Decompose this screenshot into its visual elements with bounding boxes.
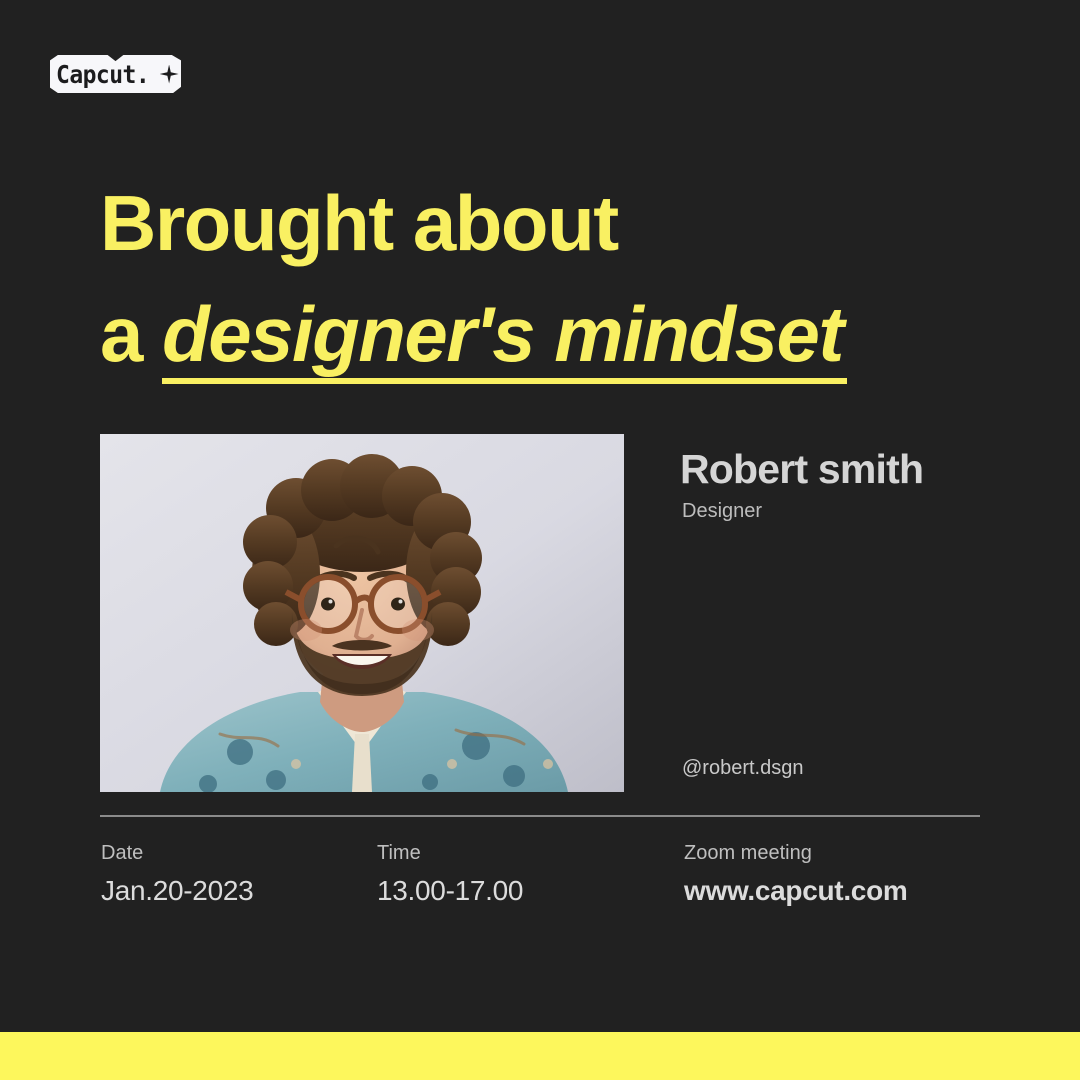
four-point-star-icon — [160, 65, 179, 84]
headline-line-2: a designer's mindset — [100, 279, 980, 390]
info-column-zoom: Zoom meeting www.capcut.com — [684, 841, 907, 908]
speaker-photo — [100, 434, 624, 792]
speaker-name: Robert smith — [680, 447, 923, 492]
info-label-zoom: Zoom meeting — [684, 841, 907, 865]
info-column-date: Date Jan.20-2023 — [101, 841, 253, 908]
headline-line2-prefix: a — [100, 290, 162, 378]
speaker-role: Designer — [682, 499, 762, 523]
event-poster: Capcut. Brought about a designer's minds… — [0, 0, 1080, 1080]
portrait-illustration — [100, 434, 624, 792]
capcut-logo-text: Capcut. — [56, 62, 149, 87]
speaker-handle[interactable]: @robert.dsgn — [682, 756, 803, 780]
headline-emphasis-text: designer's mindset — [162, 290, 843, 378]
info-column-time: Time 13.00-17.00 — [377, 841, 523, 908]
bottom-accent-bar — [0, 1032, 1080, 1080]
headline-underline — [162, 378, 847, 384]
info-value-time: 13.00-17.00 — [377, 874, 523, 908]
info-value-zoom-url[interactable]: www.capcut.com — [684, 874, 907, 908]
capcut-logo-badge[interactable]: Capcut. — [50, 55, 181, 93]
event-info-row: Date Jan.20-2023 Time 13.00-17.00 Zoom m… — [0, 841, 1080, 911]
section-divider — [100, 815, 980, 817]
headline-emphasis: designer's mindset — [162, 279, 847, 390]
headline-line-1: Brought about — [100, 168, 980, 279]
info-label-time: Time — [377, 841, 523, 865]
info-value-date: Jan.20-2023 — [101, 874, 253, 908]
headline: Brought about a designer's mindset — [100, 168, 980, 390]
info-label-date: Date — [101, 841, 253, 865]
